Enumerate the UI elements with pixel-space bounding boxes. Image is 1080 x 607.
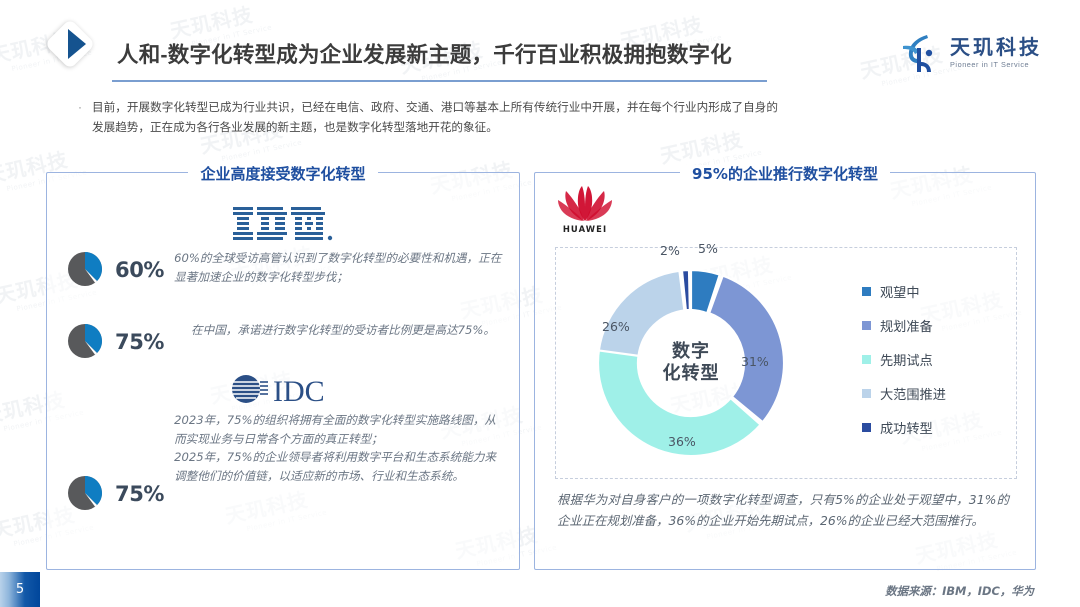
tianji-mark-icon: [897, 32, 941, 74]
stat-description: 60%的全球受访高管认识到了数字化转型的必要性和机遇，正在显著加速企业的数字化转…: [174, 249, 505, 286]
data-source-note: 数据来源：IBM，IDC，华为: [885, 583, 1034, 599]
legend-swatch-icon: [862, 321, 871, 330]
left-panel-heading-text: 企业高度接受数字化转型: [188, 165, 377, 183]
intro-paragraph: · 目前，开展数字化转型已成为行业共识，已经在电信、政府、交通、港口等基本上所有…: [78, 97, 778, 137]
donut-chart: 数字 化转型 2% 5% 31% 36% 26%: [578, 250, 804, 476]
stat-row: 75% 在中国，承诺进行数字化转型的受访者比例更是高达75%。: [65, 321, 505, 361]
ibm-logo: [47, 201, 519, 248]
stat-description: 2023年，75%的组织将拥有全面的数字化转型实施路线图，从而实现业务与日常各个…: [174, 411, 505, 485]
legend-label: 规划准备: [880, 316, 933, 335]
legend-swatch-icon: [862, 389, 871, 398]
right-panel-heading-text: 95%的企业推行数字化转型: [680, 165, 890, 183]
legend-item-transformed: 成功转型: [862, 410, 990, 444]
legend-label: 先期试点: [880, 350, 933, 369]
legend-swatch-icon: [862, 423, 871, 432]
stat-row: 60% 60%的全球受访高管认识到了数字化转型的必要性和机遇，正在显著加速企业的…: [65, 249, 505, 289]
pie-chart-icon: [65, 473, 105, 513]
corporate-name-cn: 天玑科技: [950, 37, 1042, 58]
stat-percent: 60%: [115, 249, 164, 282]
chart-container: 数字 化转型 2% 5% 31% 36% 26% 观望中 规划准备: [555, 247, 1017, 479]
right-panel-heading: 95%的企业推行数字化转型: [535, 163, 1035, 184]
intro-text: 目前，开展数字化转型已成为行业共识，已经在电信、政府、交通、港口等基本上所有传统…: [92, 97, 778, 137]
huawei-logo-icon: [558, 185, 612, 223]
idc-logo-icon: IDC: [223, 369, 343, 409]
bullet-icon: ·: [78, 97, 82, 137]
chart-note: 根据华为对自身客户的一项数字化转型调查，只有5%的企业处于观望中，31%的企业正…: [557, 489, 1009, 531]
stat-description: 在中国，承诺进行数字化转型的受访者比例更是高达75%。: [191, 321, 495, 340]
legend-item-planning: 规划准备: [862, 308, 990, 342]
left-panel-heading: 企业高度接受数字化转型: [47, 163, 519, 184]
slide: 天玑科技Pioneer in IT Service 天玑科技Pioneer in…: [0, 0, 1080, 607]
legend-label: 观望中: [880, 282, 920, 301]
donut-center-label: 数字 化转型: [578, 341, 804, 385]
corporate-logo: 天玑科技 Pioneer in IT Service: [897, 32, 1042, 74]
legend-item-large-scale: 大范围推进: [862, 376, 990, 410]
donut-label-observing: 5%: [698, 241, 718, 256]
right-panel: 95%的企业推行数字化转型 HUAWEI: [534, 172, 1036, 570]
pie-chart-icon: [65, 249, 105, 289]
corporate-tagline-en: Pioneer in IT Service: [950, 60, 1042, 69]
chart-legend: 观望中 规划准备 先期试点 大范围推进 成功转型: [862, 274, 990, 444]
svg-text:IDC: IDC: [273, 375, 325, 408]
legend-label: 成功转型: [880, 418, 933, 437]
donut-center-line2: 化转型: [578, 363, 804, 385]
pie-chart-icon: [65, 321, 105, 361]
legend-label: 大范围推进: [880, 384, 946, 403]
stat-description-text: 在中国，承诺进行数字化转型的受访者比例更是高达75%。: [191, 321, 495, 340]
legend-item-observing: 观望中: [862, 274, 990, 308]
legend-swatch-icon: [862, 355, 871, 364]
donut-label-large-scale: 26%: [602, 319, 630, 334]
ibm-logo-icon: [231, 201, 335, 243]
donut-label-transformed: 2%: [660, 243, 680, 258]
donut-center-line1: 数字: [578, 341, 804, 363]
slide-header: 人和-数字化转型成为企业发展新主题，千行百业积极拥抱数字化 天玑科技 Pione…: [0, 0, 1080, 92]
donut-label-pilot: 36%: [668, 434, 696, 449]
page-title: 人和-数字化转型成为企业发展新主题，千行百业积极拥抱数字化: [117, 38, 732, 69]
legend-item-pilot: 先期试点: [862, 342, 990, 376]
stat-description-text-2: 2025年，75%的企业领导者将利用数字平台和生态系统能力来调整他们的价值链，以…: [174, 448, 505, 485]
stat-row: 75% 2023年，75%的组织将拥有全面的数字化转型实施路线图，从而实现业务与…: [65, 411, 505, 513]
page-number-badge: 5: [0, 572, 40, 607]
stat-description-text-1: 2023年，75%的组织将拥有全面的数字化转型实施路线图，从而实现业务与日常各个…: [174, 411, 505, 448]
left-panel: 企业高度接受数字化转型: [46, 172, 520, 570]
huawei-logo: HUAWEI: [546, 185, 624, 245]
idc-logo: IDC: [47, 369, 519, 414]
huawei-wordmark: HUAWEI: [546, 224, 624, 234]
title-divider: [112, 80, 767, 82]
stat-percent: 75%: [115, 411, 164, 506]
diamond-arrow-icon: [48, 22, 94, 68]
legend-swatch-icon: [862, 287, 871, 296]
stat-percent: 75%: [115, 321, 181, 354]
donut-label-planning: 31%: [741, 354, 769, 369]
stat-description-text: 60%的全球受访高管认识到了数字化转型的必要性和机遇，正在显著加速企业的数字化转…: [174, 249, 505, 286]
